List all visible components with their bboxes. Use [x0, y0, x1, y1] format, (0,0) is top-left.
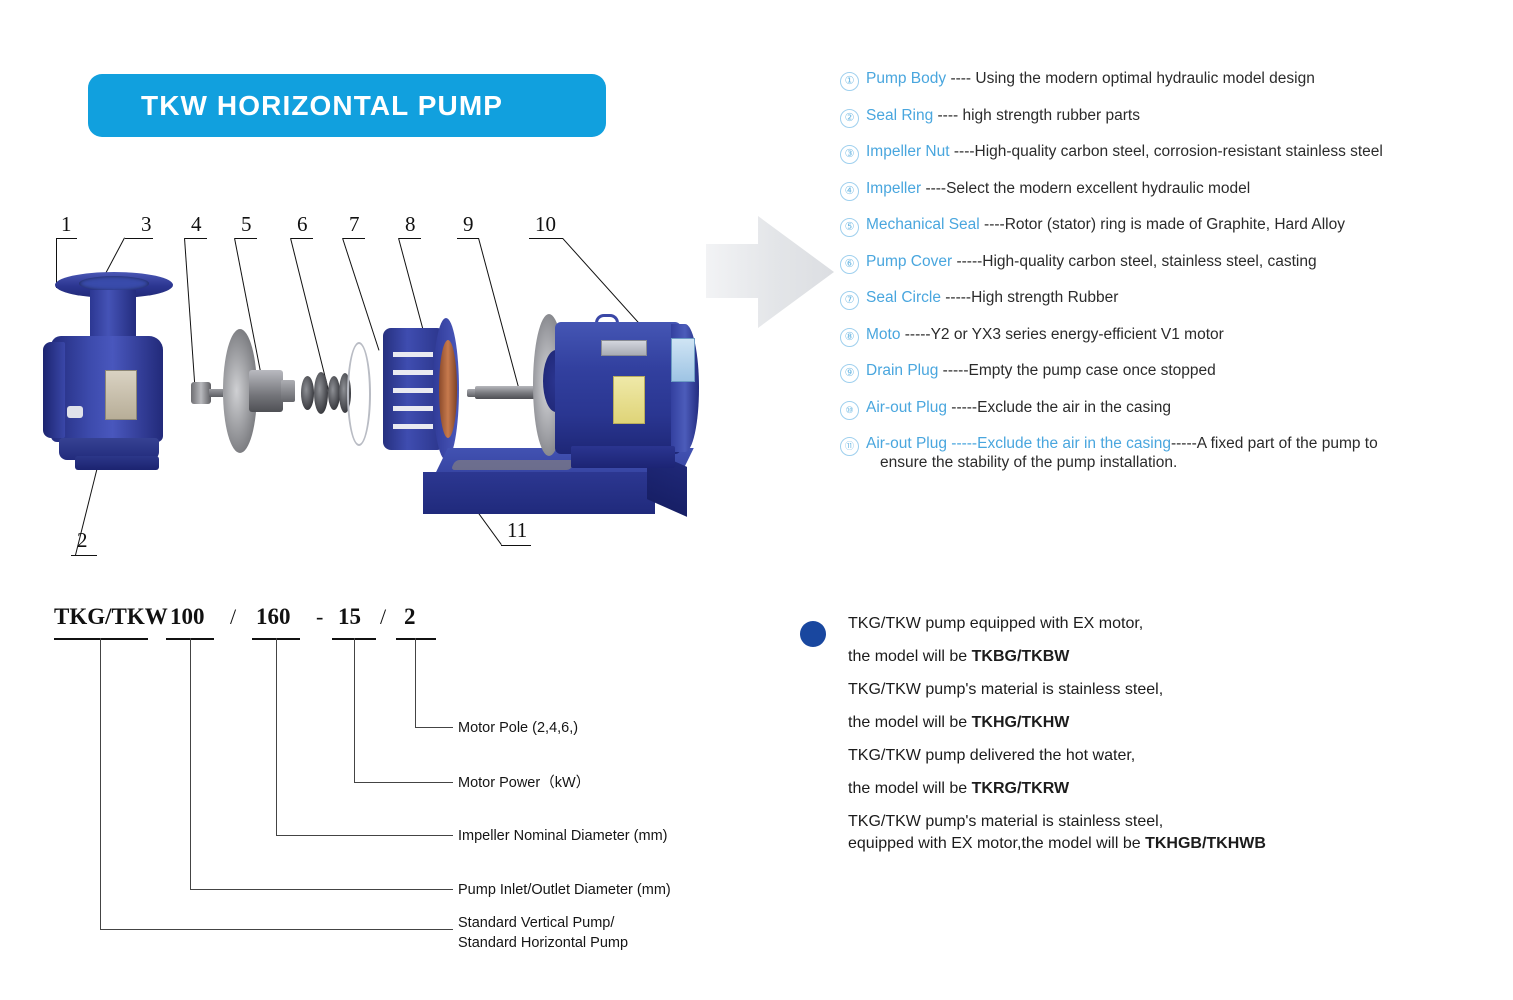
- code-separator-slash-1: /: [230, 604, 236, 630]
- note-text: TKG/TKW pump's material is stainless ste…: [848, 681, 1163, 698]
- legend-number-icon: ②: [840, 109, 859, 128]
- parts-legend-list: ① Pump Body ---- Using the modern optima…: [840, 70, 1500, 488]
- motor-shaft: [475, 386, 537, 399]
- callout-number-1: 1: [61, 214, 72, 235]
- pump-body-suction-flange: [43, 342, 65, 438]
- callout-number-6: 6: [297, 214, 308, 235]
- code-leader-impeller-vertical: [276, 638, 277, 836]
- code-label-motor-pole: Motor Pole (2,4,6,): [458, 719, 578, 739]
- pump-body-nameplate: [105, 370, 137, 420]
- callout-number-11: 11: [507, 520, 527, 541]
- code-leader-series-horizontal: [100, 929, 453, 930]
- legend-item: ⑩ Air-out Plug -----Exclude the air in t…: [840, 399, 1500, 420]
- legend-number-icon: ①: [840, 72, 859, 91]
- legend-number-icon: ⑦: [840, 291, 859, 310]
- seal-circle-oring: [347, 342, 371, 446]
- note-line: the model will be TKRG/TKRW: [848, 780, 1500, 798]
- code-segment-series: TKG/TKW: [54, 604, 168, 630]
- legend-item: ⑦ Seal Circle -----High strength Rubber: [840, 289, 1500, 310]
- legend-separator: -----: [947, 399, 977, 416]
- legend-part-name: Impeller Nut: [866, 143, 950, 160]
- note-text: the model will be: [848, 648, 972, 665]
- pump-body-flange-face: [79, 276, 149, 291]
- code-segment-inlet-diameter: 100: [170, 604, 205, 630]
- note-line: the model will be TKHG/TKHW: [848, 714, 1500, 732]
- base-plate-front: [423, 472, 655, 514]
- code-leader-inlet-vertical: [190, 638, 191, 890]
- legend-item: ⑪ Air-out Plug -----Exclude the air in t…: [840, 435, 1500, 473]
- code-leader-pole-horizontal: [415, 727, 453, 728]
- bullet-dot-icon: [800, 621, 826, 647]
- legend-item: ② Seal Ring ---- high strength rubber pa…: [840, 107, 1500, 128]
- mechanical-seal-ring: [301, 376, 314, 410]
- legend-separator: -----: [938, 362, 968, 379]
- legend-separator: ----: [946, 70, 975, 87]
- callout-number-8: 8: [405, 214, 416, 235]
- code-label-standard-pump-line1: Standard Vertical Pump/: [458, 915, 614, 931]
- motor-rating-plate: [671, 338, 695, 382]
- page-title-banner: TKW HORIZONTAL PUMP: [88, 74, 606, 137]
- legend-separator: -----: [941, 289, 971, 306]
- legend-number-icon: ⑪: [840, 437, 859, 456]
- pump-body-foot-base: [75, 456, 159, 470]
- legend-number-icon: ⑤: [840, 218, 859, 237]
- legend-part-name: Pump Body: [866, 70, 946, 87]
- legend-separator: -----: [900, 326, 930, 343]
- legend-item: ③ Impeller Nut ----High-quality carbon s…: [840, 143, 1500, 164]
- model-code-breakdown: TKG/TKW 100 / 160 - 15 / 2 Motor Pole (2…: [40, 598, 740, 978]
- code-leader-impeller-horizontal: [276, 835, 453, 836]
- base-plate-scuff: [451, 460, 576, 470]
- legend-part-name: Air-out Plug: [866, 399, 947, 416]
- legend-separator: ----: [921, 180, 946, 197]
- code-label-standard-pump: Standard Vertical Pump/ Standard Horizon…: [458, 914, 628, 953]
- legend-part-name: Impeller: [866, 180, 921, 197]
- callout-number-10: 10: [535, 214, 556, 235]
- legend-part-name: Seal Circle: [866, 289, 941, 306]
- note-line: the model will be TKBG/TKBW: [848, 648, 1500, 666]
- note-text: equipped with EX motor,the model will be: [848, 835, 1145, 852]
- legend-item: ① Pump Body ---- Using the modern optima…: [840, 70, 1500, 91]
- motor-brand-plate: [601, 340, 647, 356]
- legend-number-icon: ③: [840, 145, 859, 164]
- legend-description-blue: Exclude the air in the casing: [977, 435, 1171, 452]
- right-arrow-icon: [706, 212, 836, 332]
- callout-number-3: 3: [141, 214, 152, 235]
- code-segment-motor-pole: 2: [404, 604, 416, 630]
- pump-cover-window: [393, 352, 433, 357]
- note-text: TKG/TKW pump delivered the hot water,: [848, 747, 1135, 764]
- callout-number-9: 9: [463, 214, 474, 235]
- legend-description: High-quality carbon steel, corrosion-res…: [975, 143, 1383, 160]
- legend-description: High-quality carbon steel, stainless ste…: [982, 253, 1316, 270]
- code-separator-dash: -: [316, 604, 323, 630]
- code-leader-power-vertical: [354, 638, 355, 783]
- legend-part-name: Mechanical Seal: [866, 216, 980, 233]
- note-line: equipped with EX motor,the model will be…: [848, 835, 1500, 853]
- code-label-inlet-diameter: Pump Inlet/Outlet Diameter (mm): [458, 881, 671, 901]
- legend-number-icon: ④: [840, 182, 859, 201]
- legend-part-name: Pump Cover: [866, 253, 952, 270]
- pump-cover-window: [393, 370, 433, 375]
- legend-item: ⑤ Mechanical Seal ----Rotor (stator) rin…: [840, 216, 1500, 237]
- note-line: TKG/TKW pump delivered the hot water,: [848, 747, 1500, 765]
- legend-description: high strength rubber parts: [962, 107, 1140, 124]
- legend-part-name: Air-out Plug: [866, 435, 947, 452]
- legend-separator: -----: [952, 253, 982, 270]
- note-line: TKG/TKW pump equipped with EX motor,: [848, 615, 1500, 633]
- legend-description: Empty the pump case once stopped: [969, 362, 1216, 379]
- code-leader-inlet-horizontal: [190, 889, 453, 890]
- legend-description: Exclude the air in the casing: [977, 399, 1171, 416]
- code-label-impeller-diameter: Impeller Nominal Diameter (mm): [458, 827, 667, 847]
- code-separator-slash-2: /: [380, 604, 386, 630]
- legend-part-name: Drain Plug: [866, 362, 938, 379]
- note-model-code: TKBG/TKBW: [972, 648, 1070, 665]
- legend-number-icon: ⑨: [840, 364, 859, 383]
- code-leader-pole-vertical: [415, 638, 416, 728]
- note-model-code: TKHG/TKHW: [972, 714, 1070, 731]
- legend-separator: ----: [950, 143, 975, 160]
- pump-cover-window: [393, 424, 433, 429]
- legend-description: Using the modern optimal hydraulic model…: [975, 70, 1314, 87]
- impeller-nut-stem: [209, 389, 223, 397]
- legend-number-icon: ⑥: [840, 255, 859, 274]
- legend-description: High strength Rubber: [971, 289, 1118, 306]
- pump-cover-window: [393, 406, 433, 411]
- legend-description: Rotor (stator) ring is made of Graphite,…: [1005, 216, 1345, 233]
- note-line: TKG/TKW pump's material is stainless ste…: [848, 681, 1500, 699]
- impeller-nut: [191, 382, 211, 404]
- impeller-hub: [249, 370, 283, 412]
- code-label-standard-pump-line2: Standard Horizontal Pump: [458, 935, 628, 951]
- legend-item: ⑥ Pump Cover -----High-quality carbon st…: [840, 253, 1500, 274]
- note-text: TKG/TKW pump equipped with EX motor,: [848, 615, 1143, 632]
- legend-number-icon: ⑧: [840, 328, 859, 347]
- note-text: TKG/TKW pump's material is stainless ste…: [848, 813, 1163, 830]
- model-naming-notes: TKG/TKW pump equipped with EX motor, the…: [800, 615, 1500, 868]
- legend-item: ④ Impeller ----Select the modern excelle…: [840, 180, 1500, 201]
- note-line: TKG/TKW pump's material is stainless ste…: [848, 813, 1500, 831]
- callout-number-5: 5: [241, 214, 252, 235]
- legend-number-icon: ⑩: [840, 401, 859, 420]
- legend-item: ⑨ Drain Plug -----Empty the pump case on…: [840, 362, 1500, 383]
- note-model-code: TKHGB/TKHWB: [1145, 835, 1266, 852]
- code-segment-impeller-diameter: 160: [256, 604, 291, 630]
- legend-description: Select the modern excellent hydraulic mo…: [946, 180, 1250, 197]
- page-title: TKW HORIZONTAL PUMP: [141, 90, 503, 122]
- pump-cover-window: [393, 388, 433, 393]
- code-segment-motor-power: 15: [338, 604, 361, 630]
- legend-separator: ----: [980, 216, 1005, 233]
- pump-body-drain-port: [67, 406, 83, 418]
- pump-cover-copper-ring: [439, 340, 457, 438]
- legend-part-name: Seal Ring: [866, 107, 933, 124]
- note-model-code: TKRG/TKRW: [972, 780, 1069, 797]
- legend-description-line2: ensure the stability of the pump install…: [880, 454, 1378, 473]
- code-leader-series-vertical: [100, 638, 101, 930]
- note-text: the model will be: [848, 780, 972, 797]
- motor-foot: [571, 446, 675, 468]
- impeller-nose: [281, 380, 295, 402]
- legend-part-name: Moto: [866, 326, 900, 343]
- legend-separator: ----: [933, 107, 962, 124]
- note-text: the model will be: [848, 714, 972, 731]
- callout-number-7: 7: [349, 214, 360, 235]
- legend-description: -----A fixed part of the pump to: [1171, 435, 1378, 452]
- legend-item: ⑧ Moto -----Y2 or YX3 series energy-effi…: [840, 326, 1500, 347]
- code-label-motor-power: Motor Power（kW）: [458, 774, 590, 794]
- exploded-pump-diagram: 1 3 4 5 6 7 8 9 10 2 11: [35, 210, 715, 570]
- legend-separator: -----: [947, 435, 977, 452]
- code-leader-power-horizontal: [354, 782, 453, 783]
- mechanical-seal-ring: [314, 372, 328, 414]
- legend-description: Y2 or YX3 series energy-efficient V1 mot…: [931, 326, 1224, 343]
- callout-number-4: 4: [191, 214, 202, 235]
- motor-terminal-box-plate: [613, 376, 645, 424]
